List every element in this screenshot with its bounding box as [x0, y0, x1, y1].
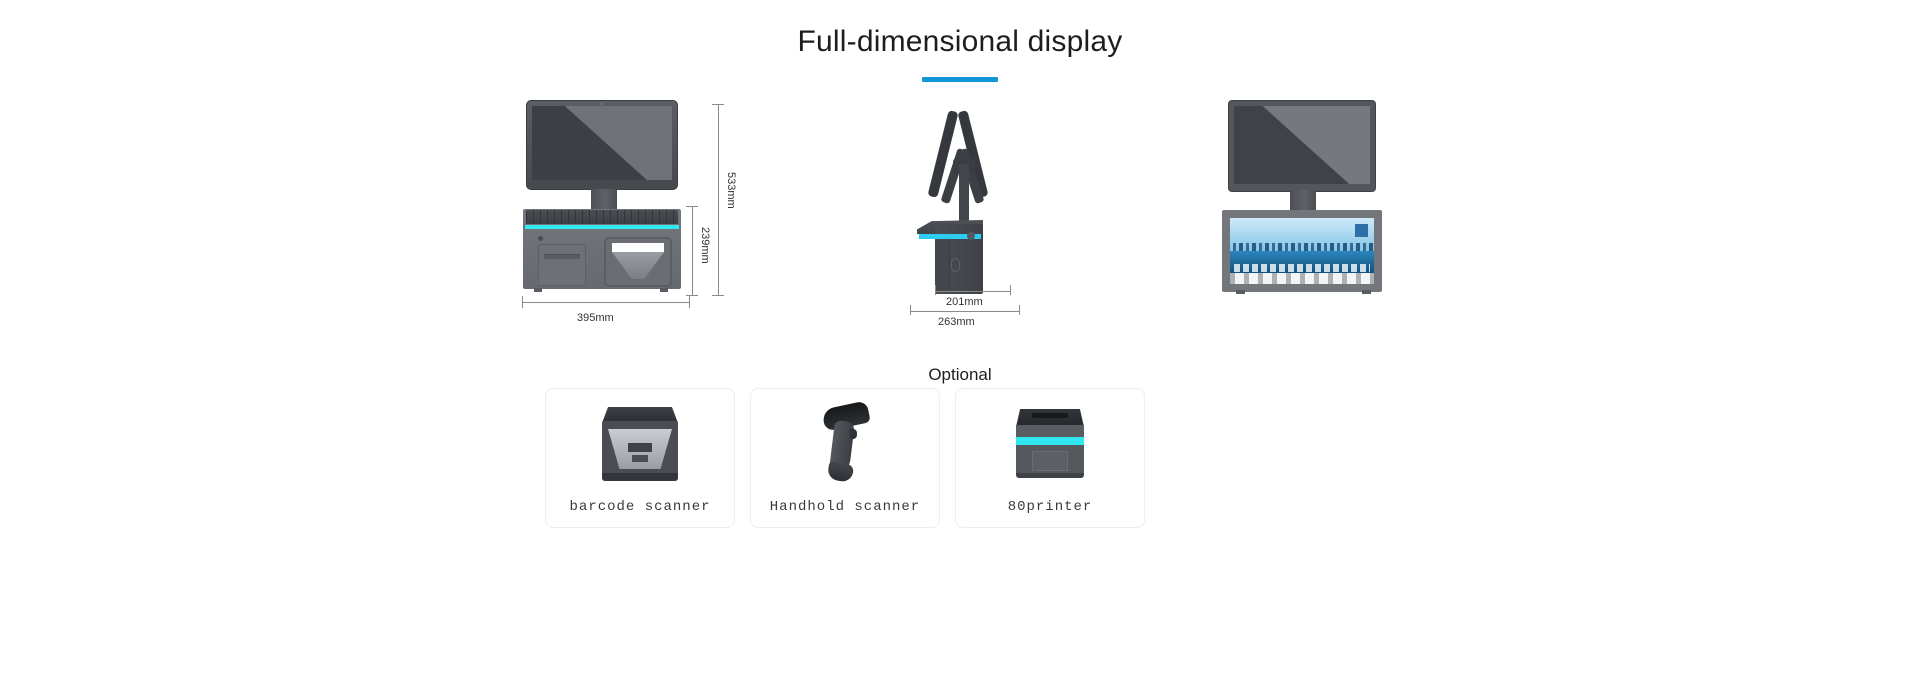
front-view-monitor: [526, 100, 678, 190]
rear-monitor-reflection: [1234, 106, 1370, 184]
page-header: Full-dimensional display: [0, 22, 1920, 82]
dim-395-tick-right: [689, 296, 690, 308]
dim-239-tick-bottom: [686, 295, 698, 296]
rear-foot-left: [1236, 290, 1245, 294]
front-view-device: [520, 96, 700, 346]
printer-front-panel: [1032, 451, 1068, 471]
dim-label-395mm: 395mm: [577, 312, 614, 324]
paper-slot: [544, 254, 580, 259]
rear-view-monitor: [1228, 100, 1376, 192]
title-underline-rule: [922, 77, 998, 82]
ad-caption-text: [1234, 264, 1370, 272]
ad-info-bar: [1230, 273, 1374, 284]
scanner-window-bay: [604, 237, 672, 287]
foot-right: [660, 288, 668, 292]
dim-201-tick-right: [1010, 285, 1011, 295]
dim-263-line: [910, 311, 1020, 312]
receipt-printer-bay: [538, 244, 586, 286]
customer-advertising-display: [1230, 218, 1374, 284]
dim-201-line: [935, 291, 1011, 292]
camera-icon: [601, 103, 603, 105]
barcode-scanner-lens-lower: [632, 455, 648, 462]
barcode-scanner-lens: [628, 443, 652, 452]
ad-logo-icon: [1355, 224, 1368, 237]
dim-533-line: [718, 104, 719, 296]
dim-label-263mm: 263mm: [938, 316, 975, 328]
power-button-icon: [538, 236, 543, 241]
handheld-scanner-tail: [827, 461, 855, 483]
rear-foot-right: [1362, 290, 1371, 294]
cyan-accent-strip: [525, 225, 679, 229]
dim-395-tick-left: [522, 296, 523, 308]
product-spec-page: Full-dimensional display: [0, 0, 1920, 673]
optional-cards: barcode scanner Handhold scanner: [545, 388, 1145, 528]
optional-card-label: Handhold scanner: [770, 499, 920, 515]
printer-paper-slot: [1032, 413, 1068, 418]
handheld-scanner-icon: [751, 403, 939, 489]
printer-base: [1016, 473, 1084, 478]
side-stand-post: [959, 164, 969, 230]
side-oval-vent-icon: [951, 258, 960, 272]
dimension-views-row: 533mm 239mm 395mm 201mm: [0, 96, 1920, 346]
barcode-scanner-base: [602, 473, 678, 481]
side-port-icon: [967, 232, 975, 240]
printer-cyan-accent-strip: [1016, 437, 1084, 445]
side-access-panel: [935, 240, 950, 290]
dim-201-tick-left: [935, 285, 936, 295]
dim-label-201mm: 201mm: [946, 296, 983, 308]
dim-263-tick-right: [1019, 305, 1020, 315]
handheld-scanner-trigger: [850, 429, 857, 439]
keyboard-deck: [526, 210, 678, 224]
dim-533-tick-bottom: [712, 295, 724, 296]
dim-263-tick-left: [910, 305, 911, 315]
page-title: Full-dimensional display: [0, 22, 1920, 62]
barcode-scanner-icon: [546, 403, 734, 489]
scanner-cone: [612, 252, 664, 279]
dim-label-533mm: 533mm: [725, 172, 737, 209]
dim-239-tick-top: [686, 206, 698, 207]
dim-533-tick-top: [712, 104, 724, 105]
optional-card-handhold-scanner[interactable]: Handhold scanner: [750, 388, 940, 528]
dim-239-line: [692, 206, 693, 296]
monitor-reflection: [532, 106, 672, 180]
optional-card-label: barcode scanner: [569, 499, 710, 515]
scanner-window: [612, 243, 664, 252]
optional-card-80printer[interactable]: 80printer: [955, 388, 1145, 528]
optional-heading: Optional: [0, 365, 1920, 385]
optional-card-label: 80printer: [1008, 499, 1093, 515]
optional-card-barcode-scanner[interactable]: barcode scanner: [545, 388, 735, 528]
dim-395-line: [522, 302, 690, 303]
receipt-printer-icon: [956, 403, 1144, 489]
foot-left: [534, 288, 542, 292]
rear-view-device: [1220, 96, 1400, 346]
dim-label-239mm: 239mm: [699, 227, 711, 264]
